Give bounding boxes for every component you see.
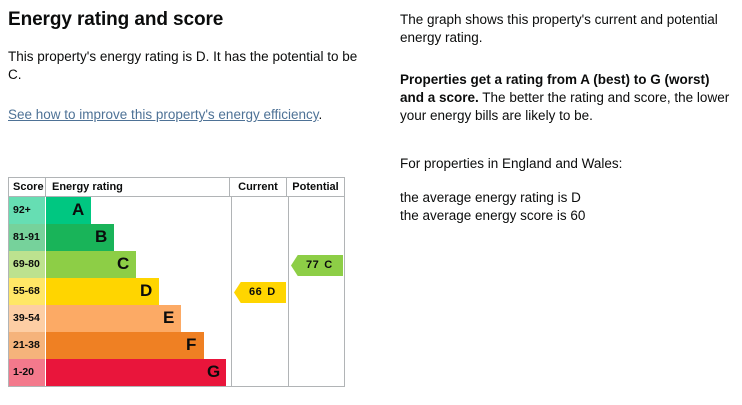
epc-band-rows: 92+ A 81-91 B 69-80 [9, 197, 231, 386]
band-bar-cell-g: G [46, 359, 231, 386]
score-range-a: 92+ [9, 197, 46, 224]
right-column: The graph shows this property's current … [400, 0, 730, 225]
band-letter-g: G [207, 359, 220, 385]
band-bar-cell-b: B [46, 224, 231, 251]
table-row: 69-80 C [9, 251, 231, 278]
potential-rating-score: 77 [306, 259, 319, 271]
table-row: 92+ A [9, 197, 231, 224]
column-header-energy-rating: Energy rating [46, 178, 230, 196]
band-letter-b: B [95, 224, 107, 250]
table-row: 81-91 B [9, 224, 231, 251]
average-rating-text: the average energy rating is D [400, 173, 730, 207]
table-row: 21-38 F [9, 332, 231, 359]
epc-table-body: 92+ A 81-91 B 69-80 [9, 197, 344, 386]
band-bar-cell-f: F [46, 332, 231, 359]
band-bar-g [46, 359, 226, 386]
score-range-d: 55-68 [9, 278, 46, 305]
score-range-b: 81-91 [9, 224, 46, 251]
potential-rating-arrow: 77C [291, 255, 343, 276]
current-rating-arrow: 66D [234, 282, 286, 303]
table-row: 39-54 E [9, 305, 231, 332]
column-divider-potential [288, 197, 289, 386]
band-bar-e [46, 305, 181, 332]
improve-efficiency-link[interactable]: See how to improve this property's energ… [8, 107, 318, 122]
band-letter-f: F [186, 332, 196, 358]
score-range-c: 69-80 [9, 251, 46, 278]
band-bar-cell-c: C [46, 251, 231, 278]
band-letter-a: A [72, 197, 84, 223]
page-title: Energy rating and score [8, 0, 368, 31]
epc-rating-chart: Score Energy rating Current Potential 92… [8, 177, 345, 387]
epc-energy-rating-page: Energy rating and score This property's … [0, 0, 742, 405]
current-rating-score: 66 [249, 286, 262, 298]
left-column: Energy rating and score This property's … [8, 0, 368, 124]
improve-efficiency-link-wrap: See how to improve this property's energ… [8, 84, 368, 124]
rating-summary-text: This property's energy rating is D. It h… [8, 31, 368, 84]
column-divider-current [231, 197, 232, 386]
column-header-potential: Potential [287, 178, 344, 196]
epc-table-header: Score Energy rating Current Potential [9, 178, 344, 197]
score-range-f: 21-38 [9, 332, 46, 359]
band-letter-c: C [117, 251, 129, 277]
graph-explanation-text: The graph shows this property's current … [400, 0, 730, 47]
band-bar-f [46, 332, 204, 359]
band-letter-d: D [140, 278, 152, 304]
potential-rating-band: C [324, 259, 332, 271]
link-trailing-period: . [318, 107, 322, 122]
region-intro-text: For properties in England and Wales: [400, 125, 730, 173]
band-bar-cell-e: E [46, 305, 231, 332]
band-letter-e: E [163, 305, 174, 331]
column-header-current: Current [230, 178, 287, 196]
band-bar-cell-a: A [46, 197, 231, 224]
average-score-text: the average energy score is 60 [400, 207, 730, 225]
score-range-e: 39-54 [9, 305, 46, 332]
current-rating-band: D [267, 286, 275, 298]
rating-scale-explanation: Properties get a rating from A (best) to… [400, 47, 730, 125]
score-range-g: 1-20 [9, 359, 46, 386]
table-row: 55-68 D [9, 278, 231, 305]
column-header-score: Score [9, 178, 46, 196]
band-bar-cell-d: D [46, 278, 231, 305]
table-row: 1-20 G [9, 359, 231, 386]
